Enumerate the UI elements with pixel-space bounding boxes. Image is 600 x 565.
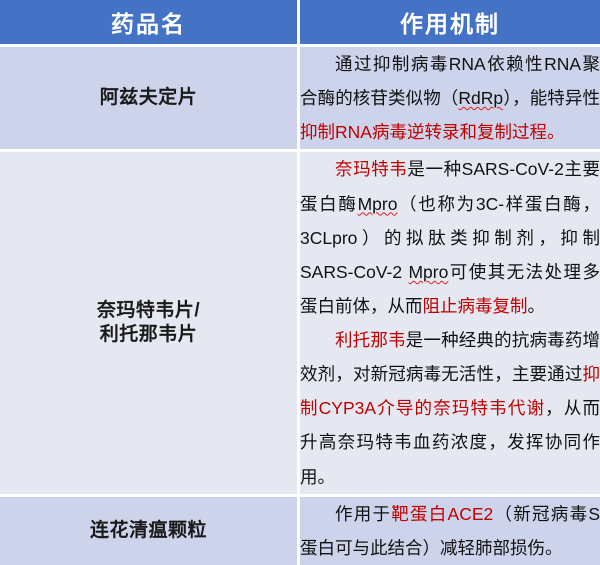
mechanism-paragraph: 奈玛特韦是一种SARS-CoV-2主要蛋白酶Mpro（也称为3C-样蛋白酶，3C…: [300, 152, 600, 323]
column-header-drug-name: 药品名: [0, 0, 300, 47]
highlighted-text: 阻止病毒复制: [423, 296, 528, 316]
mechanism-paragraph: 利托那韦是一种经典的抗病毒药增效剂，对新冠病毒无活性，主要通过抑制CYP3A介导…: [300, 323, 600, 494]
table-row: 阿兹夫定片 通过抑制病毒RNA依赖性RNA聚合酶的核苷类似物（RdRp），能特异…: [0, 47, 600, 152]
cell-mechanism: 作用于靶蛋白ACE2（新冠病毒S蛋白可与此结合）减轻肺部损伤。: [300, 497, 600, 565]
highlighted-text: 利托那韦: [335, 330, 406, 350]
drug-name-line: 连花清瘟颗粒: [90, 520, 207, 541]
table-row: 连花清瘟颗粒 作用于靶蛋白ACE2（新冠病毒S蛋白可与此结合）减轻肺部损伤。: [0, 497, 600, 565]
highlighted-text: 奈玛特韦: [335, 159, 407, 179]
table-header: 药品名 作用机制: [0, 0, 600, 47]
drug-name-line: 奈玛特韦片/: [97, 300, 200, 321]
cell-drug-name: 奈玛特韦片/ 利托那韦片: [0, 152, 300, 496]
spellcheck-term: Mpro: [408, 262, 448, 282]
table-header-row: 药品名 作用机制: [0, 0, 600, 47]
body-text: ），能特异性: [503, 88, 600, 108]
highlighted-text: 靶蛋白ACE2: [391, 504, 493, 524]
drug-mechanism-table: 药品名 作用机制 阿兹夫定片 通过抑制病毒RNA依赖性RNA聚合酶的核苷类似物（…: [0, 0, 600, 565]
drug-name-line: 阿兹夫定片: [100, 87, 198, 108]
cell-mechanism: 通过抑制病毒RNA依赖性RNA聚合酶的核苷类似物（RdRp），能特异性抑制RNA…: [300, 47, 600, 152]
spellcheck-term: Mpro: [358, 194, 398, 214]
spellcheck-term: RdRp: [458, 88, 503, 108]
cell-mechanism: 奈玛特韦是一种SARS-CoV-2主要蛋白酶Mpro（也称为3C-样蛋白酶，3C…: [300, 152, 600, 496]
body-text: 。: [528, 296, 546, 316]
body-text: 作用于: [335, 504, 391, 524]
highlighted-text: 抑制RNA病毒逆转录和复制过程。: [300, 122, 564, 142]
cell-drug-name: 连花清瘟颗粒: [0, 497, 300, 565]
mechanism-paragraph: 通过抑制病毒RNA依赖性RNA聚合酶的核苷类似物（RdRp），能特异性抑制RNA…: [300, 47, 600, 149]
cell-drug-name: 阿兹夫定片: [0, 47, 300, 152]
column-header-mechanism: 作用机制: [300, 0, 600, 47]
table-row: 奈玛特韦片/ 利托那韦片 奈玛特韦是一种SARS-CoV-2主要蛋白酶Mpro（…: [0, 152, 600, 496]
table-body: 阿兹夫定片 通过抑制病毒RNA依赖性RNA聚合酶的核苷类似物（RdRp），能特异…: [0, 47, 600, 565]
drug-name-line: 利托那韦片: [100, 324, 198, 345]
mechanism-paragraph: 作用于靶蛋白ACE2（新冠病毒S蛋白可与此结合）减轻肺部损伤。: [300, 497, 600, 565]
